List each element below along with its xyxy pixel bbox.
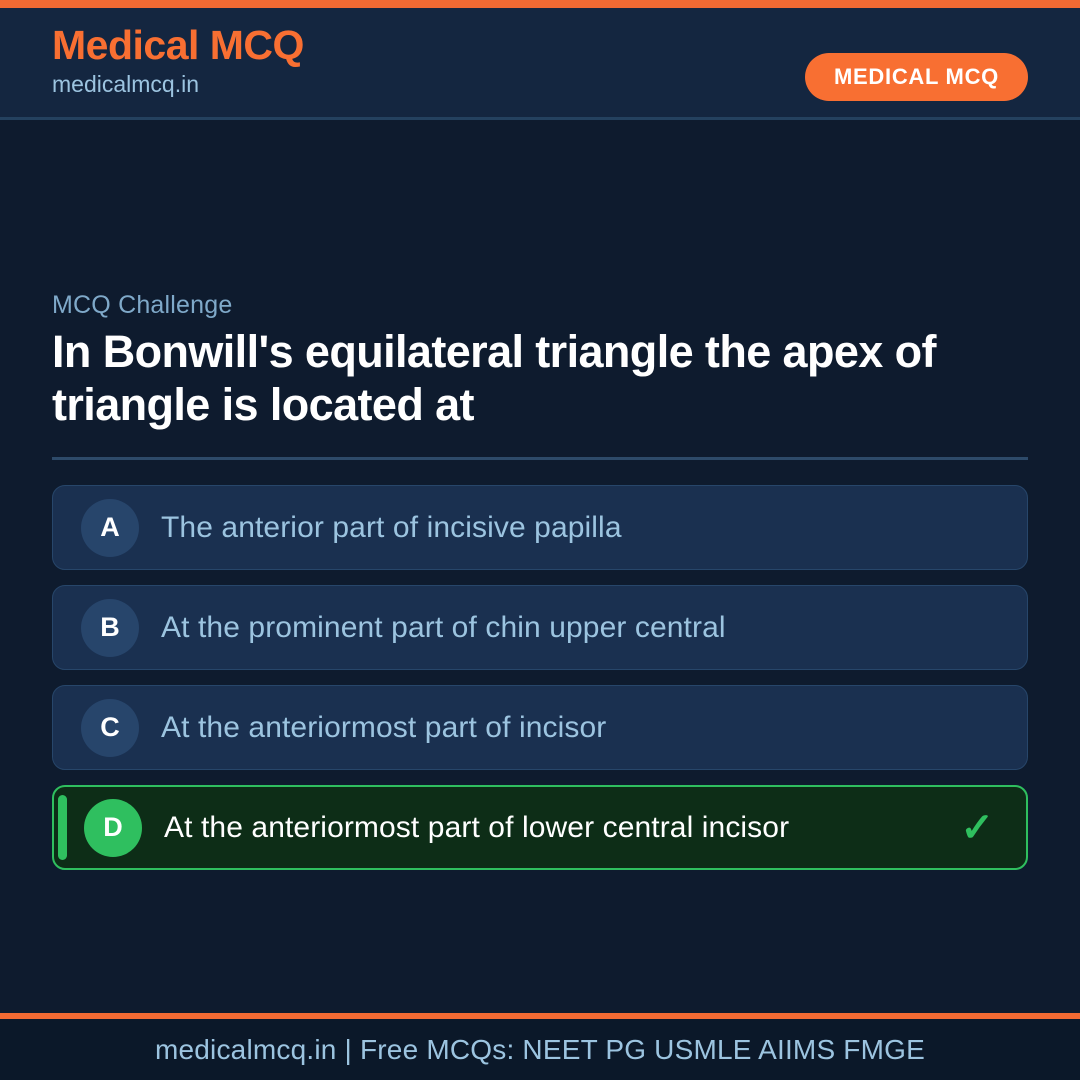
brand-title: Medical MCQ [52,23,304,69]
eyebrow-label: MCQ Challenge [52,291,1028,320]
option-letter-d: D [84,799,142,857]
option-text-b: At the prominent part of chin upper cent… [161,611,726,645]
brand-url: medicalmcq.in [52,71,304,99]
top-accent-bar [0,0,1080,8]
option-b[interactable]: B At the prominent part of chin upper ce… [52,585,1028,670]
option-letter-a: A [81,499,139,557]
option-d[interactable]: D At the anteriormost part of lower cent… [52,785,1028,870]
question-content: MCQ Challenge In Bonwill's equilateral t… [52,291,1028,870]
brand-badge: MEDICAL MCQ [805,53,1028,101]
brand-block: Medical MCQ medicalmcq.in [52,23,304,99]
option-letter-c: C [81,699,139,757]
page-footer: medicalmcq.in | Free MCQs: NEET PG USMLE… [0,1019,1080,1080]
page-title: In Bonwill's equilateral triangle the ap… [52,326,1028,431]
footer-text: medicalmcq.in | Free MCQs: NEET PG USMLE… [155,1034,925,1066]
check-icon: ✓ [960,808,994,848]
title-divider [52,457,1028,460]
option-text-c: At the anteriormost part of incisor [161,711,606,745]
main-stage: MCQ Challenge In Bonwill's equilateral t… [0,123,1080,1013]
option-text-d: At the anteriormost part of lower centra… [164,811,789,845]
correct-accent-bar [58,795,67,860]
option-c[interactable]: C At the anteriormost part of incisor [52,685,1028,770]
options-list: A The anterior part of incisive papilla … [52,485,1028,870]
option-letter-b: B [81,599,139,657]
page-header: Medical MCQ medicalmcq.in MEDICAL MCQ [0,8,1080,120]
option-text-a: The anterior part of incisive papilla [161,511,622,545]
option-a[interactable]: A The anterior part of incisive papilla [52,485,1028,570]
